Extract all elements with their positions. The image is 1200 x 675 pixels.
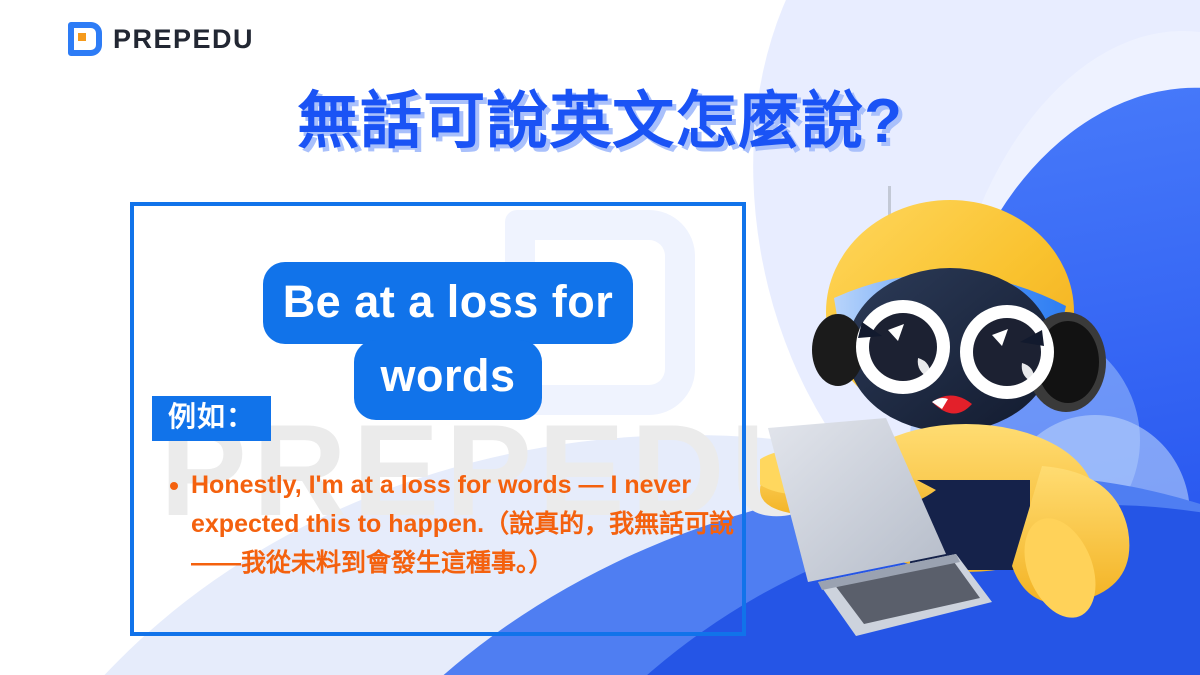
prepedu-bracket-icon bbox=[68, 22, 102, 56]
brand-logo[interactable]: PREPEDU bbox=[68, 22, 254, 56]
page-title: 無話可說英文怎麼說? bbox=[0, 88, 1200, 156]
phrase-line-2: words bbox=[354, 340, 541, 420]
example-list: Honestly, I'm at a loss for words — I ne… bbox=[163, 466, 741, 583]
phrase-line-1: Be at a loss for bbox=[263, 262, 634, 344]
brand-name: PREPEDU bbox=[113, 24, 254, 55]
example-label: 例如： bbox=[152, 396, 271, 441]
list-item: Honestly, I'm at a loss for words — I ne… bbox=[163, 466, 741, 583]
phrase-block: Be at a loss for words bbox=[222, 262, 674, 420]
slide-canvas: PREPEDU PREPEDU 無話可說英文怎麼說? Be at a loss … bbox=[0, 0, 1200, 675]
logo-orange-dot bbox=[78, 33, 86, 41]
prepedu-robot-mascot bbox=[760, 180, 1200, 675]
